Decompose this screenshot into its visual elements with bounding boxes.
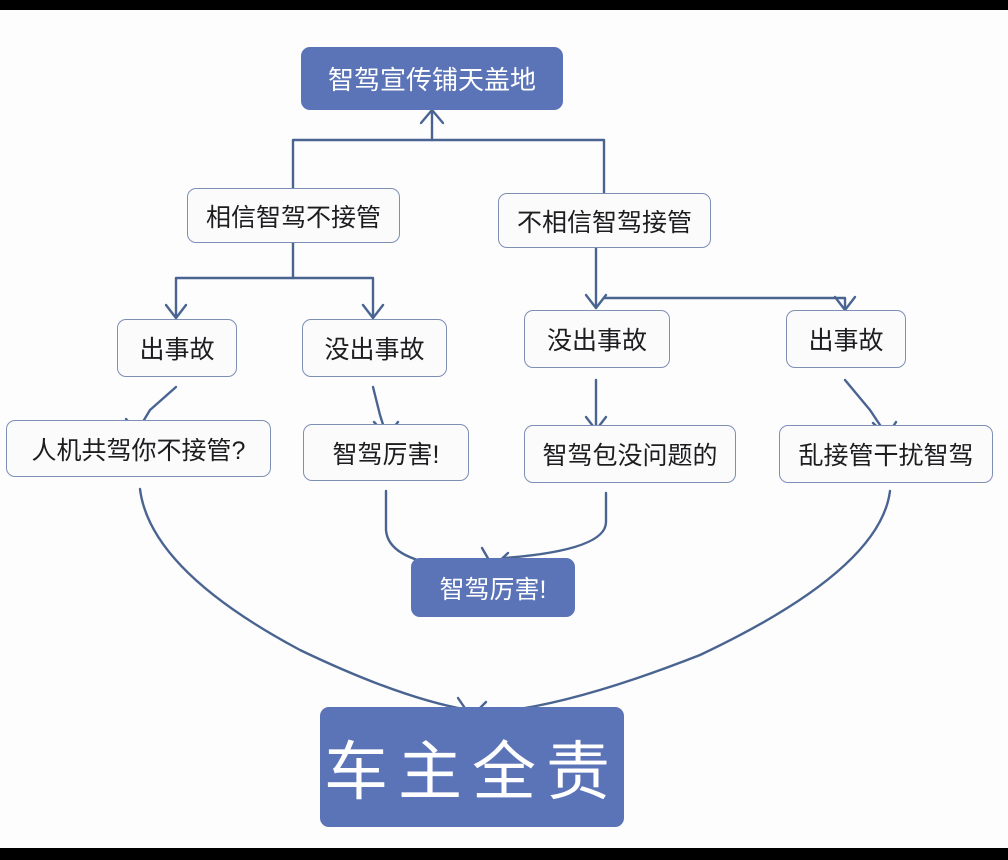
node-no-accident-1[interactable]: 没出事故 bbox=[302, 319, 447, 377]
node-root-label: 智驾宣传铺天盖地 bbox=[328, 60, 536, 97]
node-trust[interactable]: 相信智驾不接管 bbox=[187, 188, 400, 243]
node-praise-1-label: 智驾厉害! bbox=[333, 435, 440, 471]
edge-trust-to-root bbox=[293, 140, 432, 195]
node-praise-final-label: 智驾厉害! bbox=[440, 570, 547, 606]
node-praise-2-label: 智驾包没问题的 bbox=[542, 436, 717, 472]
node-no-accident-2[interactable]: 没出事故 bbox=[524, 310, 670, 368]
edge-distrust-to-root bbox=[432, 140, 604, 200]
node-root[interactable]: 智驾宣传铺天盖地 bbox=[301, 47, 563, 110]
letterbox-top bbox=[0, 0, 1008, 10]
node-blame-owner-1-label: 人机共驾你不接管? bbox=[32, 431, 246, 467]
node-praise-1[interactable]: 智驾厉害! bbox=[303, 424, 469, 481]
node-praise-final[interactable]: 智驾厉害! bbox=[411, 558, 575, 617]
edge-distrust-split-right bbox=[604, 298, 845, 310]
node-blame-owner-2[interactable]: 乱接管干扰智驾 bbox=[779, 425, 993, 483]
flowchart-canvas: 智驾宣传铺天盖地 相信智驾不接管 不相信智驾接管 出事故 没出事故 没出事故 出… bbox=[0, 10, 1008, 848]
node-no-accident-1-label: 没出事故 bbox=[324, 330, 424, 366]
node-distrust-label: 不相信智驾接管 bbox=[517, 203, 692, 239]
node-verdict[interactable]: 车主全责 bbox=[320, 707, 624, 827]
node-accident-2[interactable]: 出事故 bbox=[786, 310, 906, 368]
edge-praise2-final bbox=[492, 493, 606, 562]
node-verdict-label: 车主全责 bbox=[324, 721, 620, 813]
node-trust-label: 相信智驾不接管 bbox=[206, 198, 381, 234]
node-distrust[interactable]: 不相信智驾接管 bbox=[498, 193, 711, 248]
node-blame-owner-1[interactable]: 人机共驾你不接管? bbox=[6, 420, 271, 477]
node-accident-1[interactable]: 出事故 bbox=[117, 319, 237, 377]
edge-trust-split bbox=[176, 243, 293, 318]
edge-trust-split-right bbox=[293, 278, 373, 318]
node-no-accident-2-label: 没出事故 bbox=[547, 321, 647, 357]
edge-praise1-final bbox=[386, 491, 445, 566]
node-accident-2-label: 出事故 bbox=[808, 321, 883, 357]
node-accident-1-label: 出事故 bbox=[139, 330, 214, 366]
node-praise-2[interactable]: 智驾包没问题的 bbox=[524, 425, 736, 483]
node-blame-owner-2-label: 乱接管干扰智驾 bbox=[798, 436, 973, 472]
